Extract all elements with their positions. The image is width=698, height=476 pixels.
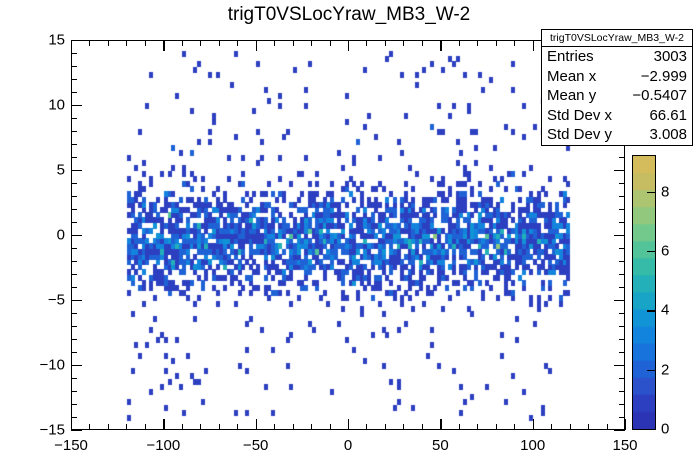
axis-tick — [256, 40, 257, 51]
axis-tick — [440, 40, 441, 51]
colorbar-tick — [647, 192, 656, 193]
colorbar-tick-label: 6 — [661, 242, 669, 259]
axis-tick — [71, 40, 82, 41]
axis-tick — [293, 40, 294, 46]
axis-tick — [619, 378, 625, 379]
colorbar-tick-label: 0 — [661, 421, 669, 438]
axis-tick — [71, 66, 77, 67]
x-axis-tick-label: −100 — [146, 437, 180, 454]
colorbar: 02468 — [632, 155, 656, 430]
root-plot-canvas: trigT0VSLocYraw_MB3_W-2 −150−100−5005010… — [0, 0, 698, 476]
axis-tick — [403, 424, 404, 430]
stats-row-key: Std Dev x — [547, 106, 612, 126]
axis-tick — [71, 248, 77, 249]
axis-tick — [614, 235, 625, 236]
axis-tick — [459, 40, 460, 46]
axis-tick — [440, 419, 441, 430]
axis-tick — [619, 287, 625, 288]
axis-tick — [256, 419, 257, 430]
axis-tick — [200, 424, 201, 430]
axis-tick — [71, 287, 77, 288]
axis-tick — [570, 424, 571, 430]
axis-tick — [71, 300, 82, 301]
axis-tick — [71, 313, 77, 314]
colorbar-tick-label: 4 — [661, 302, 669, 319]
axis-tick — [385, 424, 386, 430]
axis-tick — [71, 222, 77, 223]
axis-tick — [403, 40, 404, 46]
axis-tick — [163, 40, 164, 51]
axis-tick — [71, 378, 77, 379]
axis-tick — [71, 417, 77, 418]
axis-tick — [163, 419, 164, 430]
axis-tick — [348, 419, 349, 430]
axis-tick — [108, 424, 109, 430]
axis-tick — [614, 300, 625, 301]
axis-tick — [237, 40, 238, 46]
axis-tick — [533, 419, 534, 430]
axis-tick — [311, 424, 312, 430]
axis-tick — [200, 40, 201, 46]
axis-tick — [71, 365, 82, 366]
axis-tick — [71, 40, 72, 51]
colorbar-tick — [647, 429, 656, 430]
colorbar-tick — [647, 310, 656, 311]
x-axis-tick-label: 100 — [520, 437, 545, 454]
axis-tick — [71, 391, 77, 392]
axis-tick — [145, 424, 146, 430]
axis-tick — [348, 40, 349, 51]
y-axis-tick-label: 15 — [25, 32, 65, 49]
axis-tick — [619, 352, 625, 353]
stats-row-value: −0.5407 — [632, 86, 687, 106]
statistics-box: trigT0VSLocYraw_MB3_W-2 Entries3003Mean … — [541, 29, 693, 146]
axis-tick — [533, 40, 534, 51]
stats-box-title: trigT0VSLocYraw_MB3_W-2 — [542, 30, 692, 47]
colorbar-gradient — [632, 155, 656, 430]
axis-tick — [619, 326, 625, 327]
axis-tick — [71, 170, 82, 171]
stats-row-value: 3.008 — [649, 125, 687, 145]
axis-tick — [496, 40, 497, 46]
axis-tick — [71, 430, 82, 431]
axis-tick — [219, 424, 220, 430]
axis-tick — [330, 424, 331, 430]
page-title: trigT0VSLocYraw_MB3_W-2 — [0, 4, 698, 26]
axis-tick — [71, 196, 77, 197]
axis-tick — [71, 209, 77, 210]
axis-tick — [182, 424, 183, 430]
stats-row-value: 3003 — [654, 47, 687, 67]
axis-tick — [619, 261, 625, 262]
axis-tick — [71, 352, 77, 353]
axis-tick — [614, 170, 625, 171]
axis-tick — [551, 424, 552, 430]
axis-tick — [71, 404, 77, 405]
axis-tick — [619, 313, 625, 314]
axis-tick — [71, 53, 77, 54]
axis-tick — [619, 196, 625, 197]
y-axis-tick-label: −15 — [25, 422, 65, 439]
axis-tick — [71, 419, 72, 430]
colorbar-tick — [647, 370, 656, 371]
stats-rows: Entries3003Mean x−2.999Mean y−0.5407Std … — [542, 47, 692, 145]
axis-tick — [619, 157, 625, 158]
axis-tick — [607, 424, 608, 430]
axis-tick — [477, 424, 478, 430]
stats-row-value: 66.61 — [649, 106, 687, 126]
stats-row-key: Mean y — [547, 86, 596, 106]
x-axis-tick-label: 50 — [432, 437, 449, 454]
x-axis-tick-label: 0 — [344, 437, 352, 454]
axis-tick — [182, 40, 183, 46]
stats-row-key: Entries — [547, 47, 594, 67]
axis-tick — [614, 430, 625, 431]
axis-tick — [71, 92, 77, 93]
axis-tick — [89, 40, 90, 46]
axis-tick — [619, 183, 625, 184]
colorbar-tick-label: 8 — [661, 183, 669, 200]
axis-tick — [71, 326, 77, 327]
axis-tick — [274, 40, 275, 46]
x-axis-tick-label: −50 — [243, 437, 268, 454]
axis-tick — [126, 424, 127, 430]
axis-tick — [71, 79, 77, 80]
y-axis-tick-label: 10 — [25, 97, 65, 114]
axis-tick — [619, 248, 625, 249]
axis-tick — [422, 424, 423, 430]
axis-tick — [71, 157, 77, 158]
axis-tick — [108, 40, 109, 46]
axis-tick — [293, 424, 294, 430]
axis-tick — [145, 40, 146, 46]
axis-tick — [619, 404, 625, 405]
y-axis-tick-label: −5 — [25, 292, 65, 309]
axis-tick — [625, 419, 626, 430]
axis-tick — [385, 40, 386, 46]
axis-tick — [219, 40, 220, 46]
axis-tick — [71, 261, 77, 262]
axis-tick — [71, 131, 77, 132]
axis-tick — [619, 209, 625, 210]
axis-tick — [619, 274, 625, 275]
stats-row-key: Std Dev y — [547, 125, 612, 145]
axis-tick — [71, 144, 77, 145]
y-axis-tick-label: 0 — [25, 227, 65, 244]
axis-tick — [71, 274, 77, 275]
axis-tick — [514, 424, 515, 430]
colorbar-tick-label: 2 — [661, 361, 669, 378]
axis-tick — [89, 424, 90, 430]
axis-tick — [459, 424, 460, 430]
y-axis-tick-label: −10 — [25, 357, 65, 374]
axis-tick — [366, 40, 367, 46]
stats-row: Std Dev x66.61 — [542, 106, 692, 126]
axis-tick — [71, 339, 77, 340]
axis-tick — [71, 183, 77, 184]
axis-tick — [330, 40, 331, 46]
axis-tick — [614, 365, 625, 366]
colorbar-tick — [647, 251, 656, 252]
axis-tick — [619, 339, 625, 340]
axis-tick — [619, 222, 625, 223]
axis-tick — [311, 40, 312, 46]
axis-tick — [366, 424, 367, 430]
axis-tick — [619, 417, 625, 418]
stats-row-key: Mean x — [547, 67, 596, 87]
stats-row-value: −2.999 — [641, 67, 687, 87]
axis-tick — [619, 391, 625, 392]
axis-tick — [496, 424, 497, 430]
axis-tick — [588, 424, 589, 430]
axis-tick — [274, 424, 275, 430]
axis-tick — [71, 105, 82, 106]
x-axis-tick-label: −150 — [54, 437, 88, 454]
stats-row: Entries3003 — [542, 47, 692, 67]
x-axis-tick-label: 150 — [612, 437, 637, 454]
axis-tick — [514, 40, 515, 46]
axis-tick — [237, 424, 238, 430]
stats-row: Mean x−2.999 — [542, 67, 692, 87]
axis-tick — [126, 40, 127, 46]
axis-tick — [71, 235, 82, 236]
axis-tick — [477, 40, 478, 46]
axis-tick — [422, 40, 423, 46]
axis-tick — [71, 118, 77, 119]
stats-row: Mean y−0.5407 — [542, 86, 692, 106]
stats-row: Std Dev y3.008 — [542, 125, 692, 145]
y-axis-tick-label: 5 — [25, 162, 65, 179]
